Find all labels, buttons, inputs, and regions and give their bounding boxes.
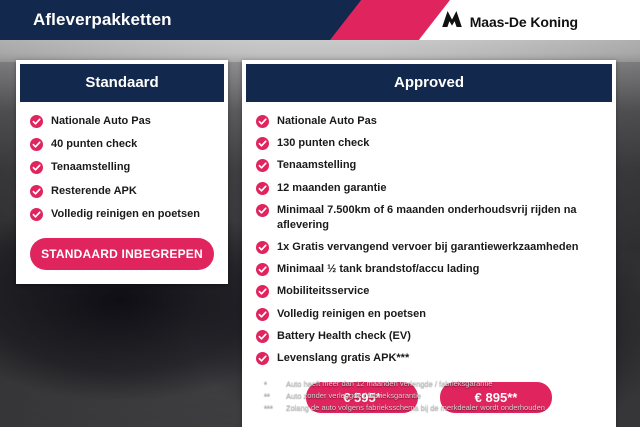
feature-label: Tenaamstelling (277, 158, 356, 173)
feature-list-standaard: Nationale Auto Pas 40 punten check Tenaa… (30, 114, 214, 222)
check-circle-icon (30, 208, 43, 221)
feature-label: Mobiliteitsservice (277, 284, 369, 299)
check-circle-icon (256, 159, 269, 172)
feature-label: Resterende APK (51, 184, 137, 199)
list-item: Minimaal ½ tank brandstof/accu lading (256, 262, 602, 277)
standaard-inbegrepen-button[interactable]: STANDAARD INBEGREPEN (30, 238, 214, 270)
list-item: Battery Health check (EV) (256, 329, 602, 344)
check-circle-icon (256, 137, 269, 150)
check-circle-icon (256, 241, 269, 254)
footnote-row: *** Zolang de auto volgens fabrieksschem… (264, 403, 614, 413)
list-item: Mobiliteitsservice (256, 284, 602, 299)
brand-name: Maas-De Koning (470, 14, 578, 30)
feature-label: Tenaamstelling (51, 160, 130, 175)
card-body-standaard: Nationale Auto Pas 40 punten check Tenaa… (16, 102, 228, 284)
footnote-text: Auto zonder verlengde / fabrieksgarantie (286, 391, 614, 401)
footnote-marker: ** (264, 391, 286, 401)
package-card-approved: Approved Nationale Auto Pas 130 punten c… (242, 60, 616, 427)
list-item: Nationale Auto Pas (30, 114, 214, 129)
brand-lockup: Maas-De Koning (441, 10, 578, 33)
feature-label: 130 punten check (277, 136, 369, 151)
list-item: 12 maanden garantie (256, 181, 602, 196)
check-circle-icon (30, 185, 43, 198)
feature-label: Minimaal 7.500km of 6 maanden onderhouds… (277, 203, 602, 233)
feature-label: Battery Health check (EV) (277, 329, 411, 344)
card-heading-standaard: Standaard (20, 64, 224, 102)
footnote-text: Auto heeft meer dan 12 maanden verlengde… (286, 379, 614, 389)
page-banner: Afleverpakketten Maas-De Koning (0, 0, 640, 40)
check-circle-icon (256, 308, 269, 321)
footnote-text: Zolang de auto volgens fabrieksschema bi… (286, 403, 614, 413)
package-card-standaard: Standaard Nationale Auto Pas 40 punten c… (16, 60, 228, 284)
list-item: Tenaamstelling (256, 158, 602, 173)
feature-label: Minimaal ½ tank brandstof/accu lading (277, 262, 479, 277)
maas-de-koning-m-logo-icon (441, 10, 463, 33)
list-item: Volledig reinigen en poetsen (30, 207, 214, 222)
list-item: Levenslang gratis APK*** (256, 351, 602, 366)
feature-label: 40 punten check (51, 137, 137, 152)
check-circle-icon (256, 263, 269, 276)
page-title: Afleverpakketten (33, 10, 172, 30)
card-heading-approved: Approved (246, 64, 612, 102)
feature-label: Nationale Auto Pas (51, 114, 151, 129)
footnote-row: * Auto heeft meer dan 12 maanden verleng… (264, 379, 614, 389)
feature-list-approved: Nationale Auto Pas 130 punten check Tena… (256, 114, 602, 366)
afleverpakketten-screen: Afleverpakketten Maas-De Koning Standaar… (0, 0, 640, 427)
list-item: 40 punten check (30, 137, 214, 152)
footnote-marker: *** (264, 403, 286, 413)
list-item: Resterende APK (30, 184, 214, 199)
check-circle-icon (256, 352, 269, 365)
check-circle-icon (256, 115, 269, 128)
feature-label: Volledig reinigen en poetsen (277, 307, 426, 322)
list-item: 130 punten check (256, 136, 602, 151)
check-circle-icon (256, 285, 269, 298)
feature-label: 1x Gratis vervangend vervoer bij garanti… (277, 240, 578, 255)
check-circle-icon (256, 330, 269, 343)
check-circle-icon (30, 138, 43, 151)
footnote-marker: * (264, 379, 286, 389)
list-item: Volledig reinigen en poetsen (256, 307, 602, 322)
list-item: 1x Gratis vervangend vervoer bij garanti… (256, 240, 602, 255)
footnotes: * Auto heeft meer dan 12 maanden verleng… (264, 379, 614, 415)
check-circle-icon (30, 161, 43, 174)
feature-label: 12 maanden garantie (277, 181, 386, 196)
check-circle-icon (256, 204, 269, 217)
list-item: Minimaal 7.500km of 6 maanden onderhouds… (256, 203, 602, 233)
list-item: Tenaamstelling (30, 160, 214, 175)
feature-label: Nationale Auto Pas (277, 114, 377, 129)
footnote-row: ** Auto zonder verlengde / fabrieksgaran… (264, 391, 614, 401)
list-item: Nationale Auto Pas (256, 114, 602, 129)
feature-label: Levenslang gratis APK*** (277, 351, 409, 366)
check-circle-icon (30, 115, 43, 128)
feature-label: Volledig reinigen en poetsen (51, 207, 200, 222)
check-circle-icon (256, 182, 269, 195)
